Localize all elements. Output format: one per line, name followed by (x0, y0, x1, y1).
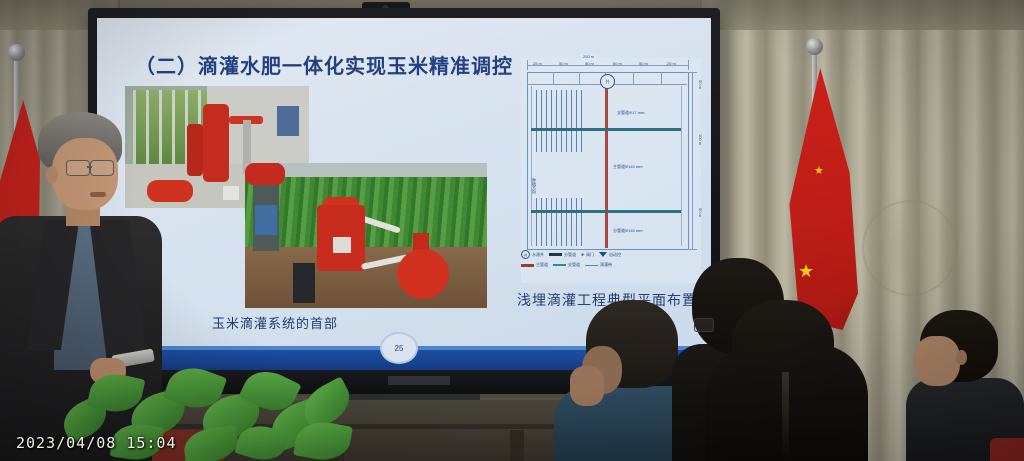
field-edge-line (681, 86, 682, 246)
fertilizer-tank (245, 163, 285, 185)
flag-right: ★ ★ (788, 38, 868, 338)
right-dimension-label: 50 m (698, 80, 703, 89)
television-brand-plate (388, 376, 450, 385)
field-equipment-photo (245, 163, 487, 308)
audience-member-3 (690, 300, 880, 461)
curtain-pattern-ring (862, 200, 958, 296)
drip-tape-group (531, 90, 583, 152)
audience-face (914, 336, 960, 386)
legend-label: 分管道 (564, 252, 576, 258)
right-dimension-label: 50 m (698, 208, 703, 217)
main-pipe-swatch (521, 264, 534, 267)
bucket (223, 186, 239, 200)
drip-tape-group (531, 198, 583, 246)
legend-entry: 滴灌带 (585, 262, 612, 268)
presenter-ear (46, 166, 58, 183)
soil-ground (245, 247, 487, 308)
legend-entry: 分管道 (549, 252, 576, 258)
field-edge-line (531, 86, 532, 246)
legend-entry: 井 水源井 (521, 250, 544, 259)
pump-unit-secondary (187, 124, 203, 176)
planting-direction-label: 种植方向 (531, 178, 537, 194)
chair-back (990, 438, 1024, 461)
flag-finial (8, 44, 25, 61)
pipe-label: 主管道Φ140 mm (613, 164, 643, 170)
eyeglasses-bridge (87, 166, 92, 168)
dimension-tick (553, 72, 554, 84)
right-dimension-label: 100 m (698, 134, 703, 145)
legend-entry: ● 阀门 (581, 252, 594, 258)
right-dimension-line (687, 72, 697, 250)
control-panel (277, 106, 299, 136)
segment-label: 25 m (667, 61, 676, 66)
corn-field (245, 177, 487, 251)
legend-label: 阀门 (586, 252, 594, 258)
eyeglasses-icon (66, 160, 90, 176)
pipe-label: 分管道Φ140 mm (613, 228, 643, 234)
dimension-tick (633, 72, 634, 84)
pressure-tank (397, 249, 449, 299)
branch-pipeline (531, 210, 681, 213)
legend-label: 水源井 (532, 252, 544, 258)
branch-pipeline (531, 128, 681, 131)
flag-star-icon: ★ (814, 166, 824, 177)
segment-label: 50 m (559, 61, 568, 66)
legend-entry: 主管道 (521, 262, 548, 268)
slide-title: （二）滴灌水肥一体化实现玉米精准调控 (135, 50, 535, 79)
water-well-icon: 井 (600, 74, 615, 89)
wellhead (293, 263, 315, 303)
flag-finial (806, 38, 823, 55)
pump-unit (203, 104, 229, 182)
well-icon: 井 (521, 250, 530, 259)
segment-label: 50 m (585, 61, 594, 66)
legend-label: 主管道 (536, 262, 548, 268)
audience-ear (956, 350, 967, 365)
legend-entry: 支管道 (553, 262, 580, 268)
total-dimension-line (527, 60, 689, 70)
audience-member-4 (906, 310, 1024, 461)
lateral-pipe-swatch (553, 264, 566, 266)
audience-hair-highlight (782, 372, 789, 461)
main-pipeline (605, 80, 608, 248)
slide-page-number: 25 (380, 332, 418, 364)
total-span-label: 250 m (581, 54, 596, 59)
branch-pipe-swatch (549, 253, 562, 256)
drip-tape-swatch (585, 265, 598, 266)
legend-label: 自动控 (609, 252, 621, 258)
dimension-tick (661, 72, 662, 84)
legend-entry: 自动控 (599, 252, 621, 258)
presenter-mouth (90, 192, 106, 197)
leaf (182, 425, 239, 461)
pressure-gauge (333, 237, 351, 253)
legend-label: 滴灌带 (600, 262, 612, 268)
legend-label: 支管道 (568, 262, 580, 268)
dimension-tick (579, 72, 580, 84)
cabinet-leg (510, 430, 524, 461)
conference-room-scene: （二）滴灌水肥一体化实现玉米精准调控 (0, 0, 1024, 461)
control-box (255, 205, 277, 235)
segment-label: 25 m (533, 61, 542, 66)
timestamp-overlay: 2023/04/08 15:04 (16, 434, 177, 452)
pipe-label: 支管道Φ17 mm (617, 110, 644, 116)
eyeglasses-icon (90, 160, 114, 176)
valve-icon: ● (581, 252, 584, 258)
flag-star-icon: ★ (798, 262, 814, 280)
photo-caption: 玉米滴灌系统的首部 (175, 313, 375, 332)
segment-label: 50 m (613, 61, 622, 66)
segment-label: 50 m (639, 61, 648, 66)
audience-hand (570, 366, 604, 406)
auto-control-icon (599, 252, 607, 257)
